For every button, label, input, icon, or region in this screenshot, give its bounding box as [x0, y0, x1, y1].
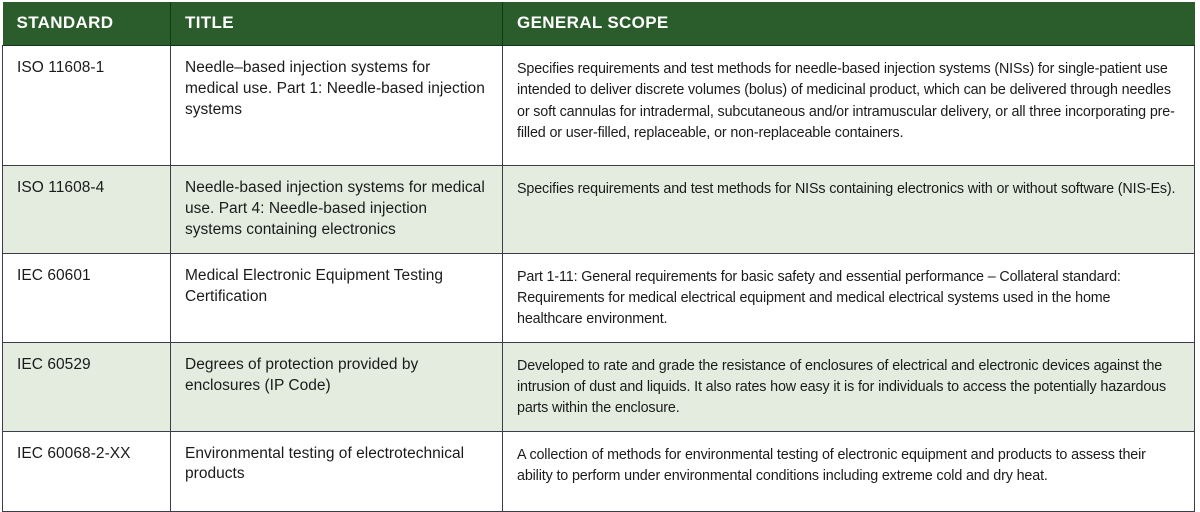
table-row: ISO 11608-4 Needle-based injection syste…: [3, 166, 1195, 254]
table-row: IEC 60068-2-XX Environmental testing of …: [3, 431, 1195, 511]
cell-title: Degrees of protection provided by enclos…: [171, 342, 503, 431]
cell-title: Environmental testing of electrotechnica…: [171, 431, 503, 511]
scope-text: Developed to rate and grade the resistan…: [517, 355, 1179, 419]
table-body: ISO 11608-1 Needle–based injection syste…: [3, 46, 1195, 512]
cell-scope: Specifies requirements and test methods …: [503, 166, 1195, 254]
cell-scope: A collection of methods for environmenta…: [503, 431, 1195, 511]
column-header-standard: STANDARD: [3, 2, 171, 46]
scope-text: Part 1-11: General requirements for basi…: [517, 266, 1179, 330]
table-header: STANDARD TITLE GENERAL SCOPE: [3, 2, 1195, 46]
cell-scope: Specifies requirements and test methods …: [503, 46, 1195, 166]
table-row: ISO 11608-1 Needle–based injection syste…: [3, 46, 1195, 166]
table-header-row: STANDARD TITLE GENERAL SCOPE: [3, 2, 1195, 46]
column-header-general-scope: GENERAL SCOPE: [503, 2, 1195, 46]
cell-scope: Part 1-11: General requirements for basi…: [503, 253, 1195, 342]
cell-scope: Developed to rate and grade the resistan…: [503, 342, 1195, 431]
scope-text: Specifies requirements and test methods …: [517, 58, 1179, 143]
cell-title: Needle–based injection systems for medic…: [171, 46, 503, 166]
cell-standard: IEC 60529: [3, 342, 171, 431]
cell-standard: IEC 60601: [3, 253, 171, 342]
cell-standard: ISO 11608-4: [3, 166, 171, 254]
cell-title: Medical Electronic Equipment Testing Cer…: [171, 253, 503, 342]
cell-title: Needle-based injection systems for medic…: [171, 166, 503, 254]
cell-standard: ISO 11608-1: [3, 46, 171, 166]
table-row: IEC 60601 Medical Electronic Equipment T…: [3, 253, 1195, 342]
standards-table: STANDARD TITLE GENERAL SCOPE ISO 11608-1…: [2, 2, 1195, 512]
scope-text: Specifies requirements and test methods …: [517, 178, 1179, 199]
standards-table-container: STANDARD TITLE GENERAL SCOPE ISO 11608-1…: [0, 0, 1200, 480]
table-row: IEC 60529 Degrees of protection provided…: [3, 342, 1195, 431]
cell-standard: IEC 60068-2-XX: [3, 431, 171, 511]
column-header-title: TITLE: [171, 2, 503, 46]
